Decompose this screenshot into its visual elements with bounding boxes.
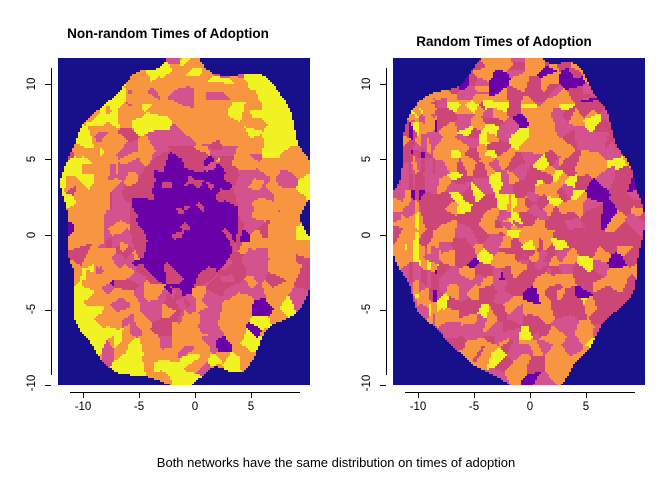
x-tick-left-m10	[83, 392, 84, 398]
x-tick-right-0	[530, 392, 531, 398]
figure-caption: Both networks have the same distribution…	[0, 455, 672, 470]
panel-title-line1: Non-random Times of Adoption	[67, 26, 269, 41]
panel-title-random-line1: Random Times of Adoption	[416, 34, 592, 49]
x-axis-line-right	[405, 392, 635, 393]
y-tick-label-right-m5: -5	[361, 299, 373, 319]
diffusion-map-nonrandom	[58, 58, 310, 385]
y-tick-right-10	[380, 84, 386, 85]
y-tick-label-left-m10: -10	[26, 370, 38, 396]
y-axis-line-right	[386, 68, 387, 375]
plot-area-nonrandom	[58, 58, 310, 385]
y-tick-label-right-0: 0	[361, 228, 373, 242]
y-tick-right-m10	[380, 385, 386, 386]
panel-nonrandom: Non-random Times of Adoption Adoption fr…	[0, 0, 336, 430]
x-tick-label-right-5: 5	[579, 401, 593, 413]
x-tick-label-right-0: 0	[523, 401, 537, 413]
y-tick-label-right-m10: -10	[361, 370, 373, 396]
x-tick-label-right-m10: -10	[405, 401, 431, 413]
x-axis-line-left	[70, 392, 300, 393]
x-tick-label-left-5: 5	[244, 401, 258, 413]
x-tick-left-5	[251, 392, 252, 398]
x-tick-right-5	[586, 392, 587, 398]
panel-title-random: Random Times of Adoption	[336, 18, 672, 50]
diffusion-map-random	[393, 58, 645, 385]
x-tick-label-right-m5: -5	[464, 401, 484, 413]
x-tick-left-m5	[139, 392, 140, 398]
x-tick-label-left-0: 0	[188, 401, 202, 413]
plot-area-random	[393, 58, 645, 385]
x-tick-left-0	[195, 392, 196, 398]
x-tick-right-m5	[474, 392, 475, 398]
figure-root: Non-random Times of Adoption Adoption fr…	[0, 0, 672, 480]
y-tick-left-0	[45, 235, 51, 236]
y-tick-label-left-0: 0	[26, 228, 38, 242]
y-tick-right-m5	[380, 310, 386, 311]
x-tick-label-left-m10: -10	[70, 401, 96, 413]
x-tick-label-left-m5: -5	[129, 401, 149, 413]
y-axis-line-left	[51, 68, 52, 375]
y-tick-left-5	[45, 159, 51, 160]
y-tick-left-m5	[45, 310, 51, 311]
y-tick-label-left-5: 5	[26, 152, 38, 166]
y-tick-left-10	[45, 84, 51, 85]
y-tick-left-m10	[45, 385, 51, 386]
y-tick-label-left-m5: -5	[26, 299, 38, 319]
y-tick-right-5	[380, 159, 386, 160]
y-tick-right-0	[380, 235, 386, 236]
y-tick-label-right-10: 10	[361, 74, 373, 94]
panel-random: Random Times of Adoption 10 5 0 -5 -10 -…	[336, 0, 672, 430]
y-tick-label-left-10: 10	[26, 74, 38, 94]
x-tick-right-m10	[418, 392, 419, 398]
y-tick-label-right-5: 5	[361, 152, 373, 166]
